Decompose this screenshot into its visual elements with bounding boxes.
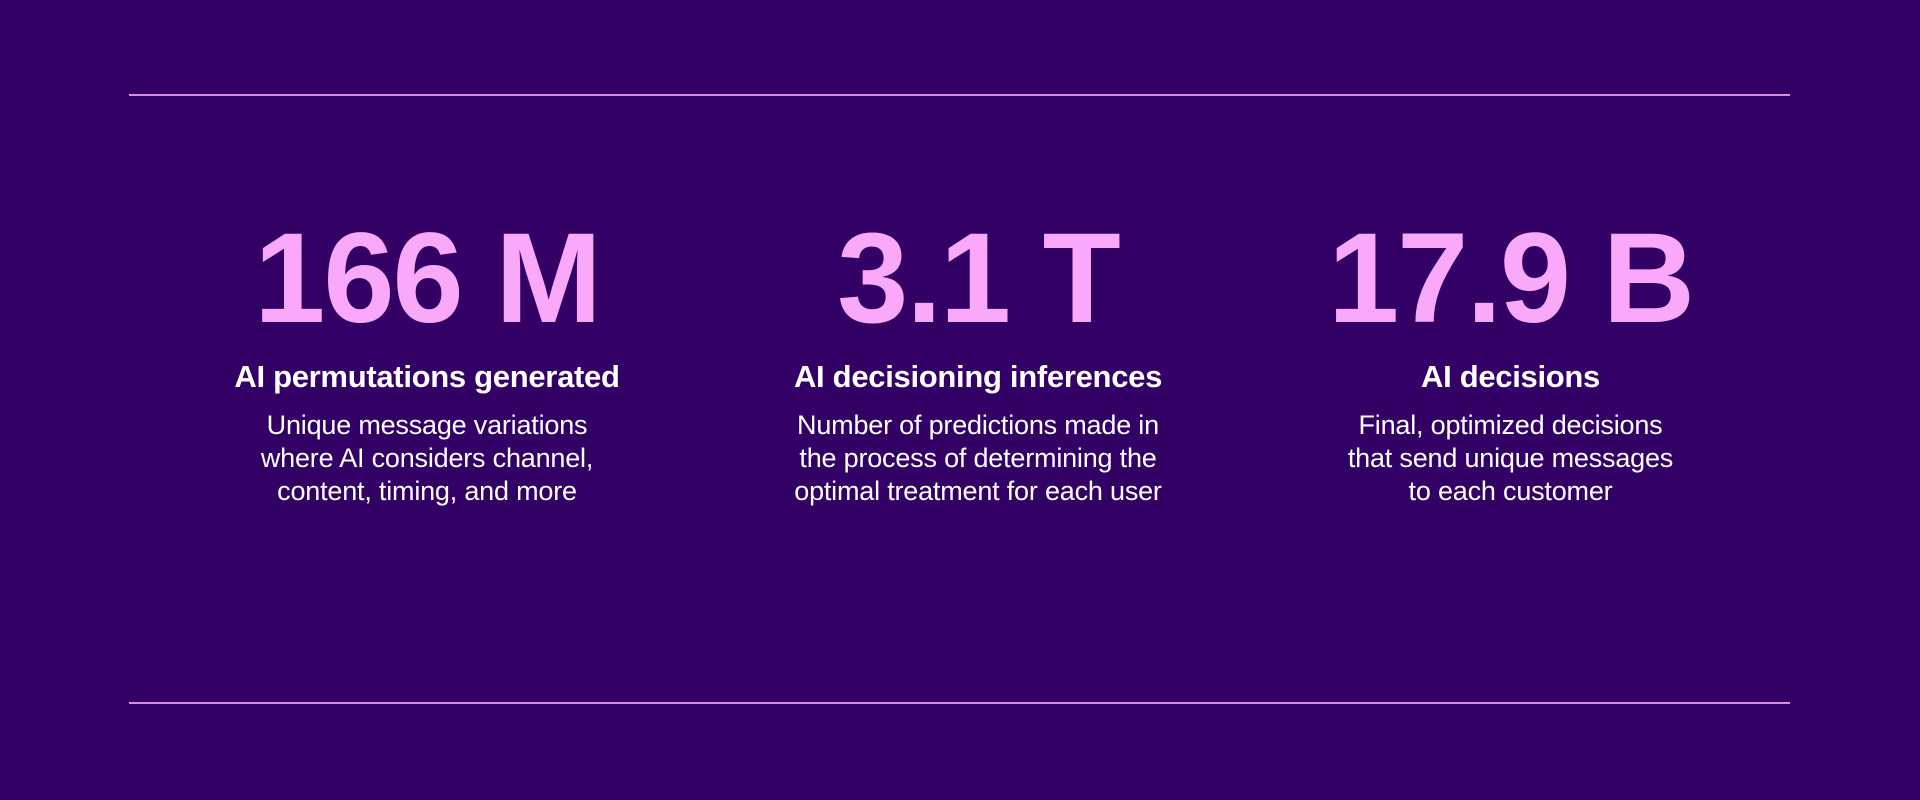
stat-card-ai-decisions: 17.9 B AI decisions Final, optimized dec… [1231,215,1790,507]
stat-description-line: that send unique messages [1241,442,1780,475]
stat-value: 17.9 B [1241,215,1780,343]
top-divider-rule [129,94,1790,96]
stat-description: Number of predictions made in the proces… [735,409,1221,508]
stat-description-line: Final, optimized decisions [1241,409,1780,442]
stat-description-line: where AI considers channel, [139,442,715,475]
stat-value: 3.1 T [735,215,1221,343]
stat-card-ai-decisioning-inferences: 3.1 T AI decisioning inferences Number o… [725,215,1231,507]
stat-description: Unique message variations where AI consi… [139,409,715,508]
stat-description-line: the process of determining the [735,442,1221,475]
stat-description-line: optimal treatment for each user [735,475,1221,508]
stat-description-line: Unique message variations [139,409,715,442]
stat-description-line: to each customer [1241,475,1780,508]
stat-description-line: Number of predictions made in [735,409,1221,442]
stat-value: 166 M [139,215,715,343]
stat-description: Final, optimized decisions that send uni… [1241,409,1780,508]
stats-slide: 166 M AI permutations generated Unique m… [0,0,1920,800]
bottom-divider-rule [129,702,1790,704]
stat-title: AI permutations generated [139,359,715,395]
stat-title: AI decisions [1241,359,1780,395]
stats-row: 166 M AI permutations generated Unique m… [129,215,1790,507]
stat-description-line: content, timing, and more [139,475,715,508]
stat-card-ai-permutations: 166 M AI permutations generated Unique m… [129,215,725,507]
stat-title: AI decisioning inferences [735,359,1221,395]
